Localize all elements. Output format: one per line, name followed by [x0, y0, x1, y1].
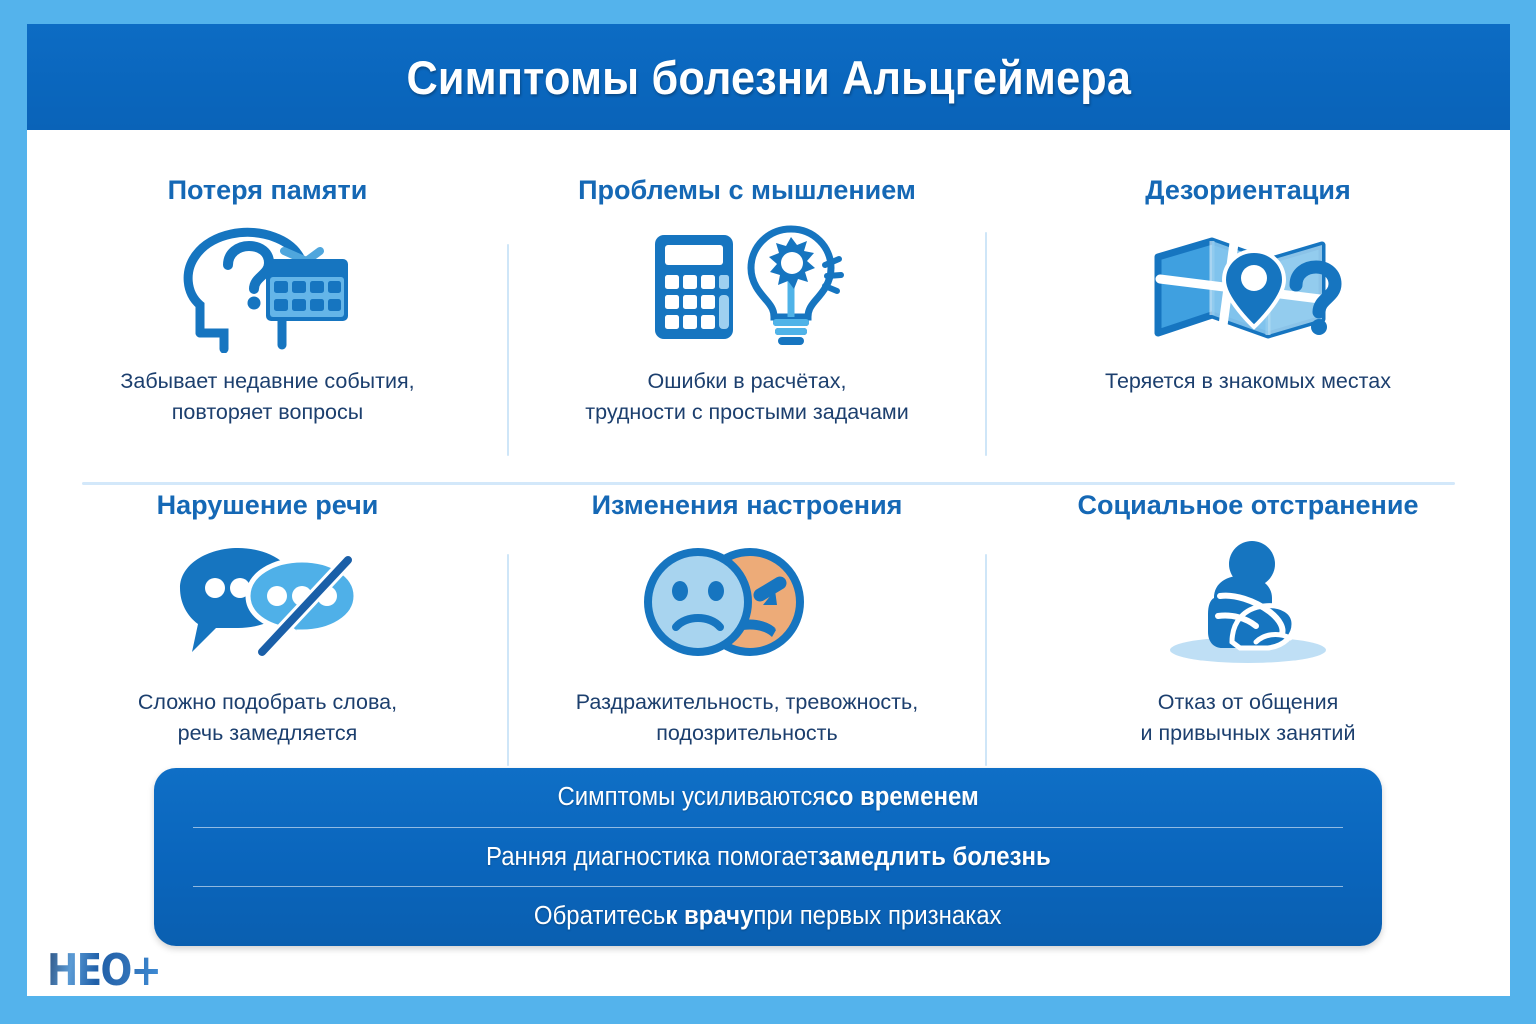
divider-vertical-2	[985, 232, 987, 456]
calculator-lightbulb-icon	[647, 212, 847, 362]
banner-line-2-bold: замедлить болезнь	[818, 843, 1051, 872]
card-description: Отказ от общения и привычных занятий	[1127, 687, 1370, 749]
card-description-line: повторяет вопросы	[172, 400, 363, 424]
symptom-card-speech-impairment[interactable]: Нарушение речи	[27, 447, 508, 764]
symptom-card-mood-changes[interactable]: Изменения настроения Раздражител	[508, 447, 986, 764]
symptom-grid: Потеря памяти	[27, 130, 1510, 764]
banner-line-2-plain: Ранняя диагностика помогает	[486, 843, 818, 872]
banner-line-1: Симптомы усиливаются со временем	[557, 768, 978, 827]
card-description: Забывает недавние события, повторяет воп…	[106, 366, 428, 428]
banner-line-3-plain: Обратитесь	[534, 902, 665, 931]
symptom-card-disorientation[interactable]: Дезориентация Теряется в знакомы	[986, 130, 1510, 447]
symptom-card-social-withdrawal[interactable]: Социальное отстранение Отказ от общения …	[986, 447, 1510, 764]
card-description-line: речь замедляется	[178, 721, 358, 745]
card-description-line: и привычных занятий	[1141, 721, 1356, 745]
poster-panel: Симптомы болезни Альцгеймера Потеря памя…	[27, 24, 1510, 996]
symptom-card-thinking-problems[interactable]: Проблемы с мышлением	[508, 130, 986, 447]
divider-vertical-4	[985, 554, 987, 766]
symptom-card-memory-loss[interactable]: Потеря памяти	[27, 130, 508, 447]
card-description-line: Забывает недавние события,	[120, 369, 414, 393]
speech-bubbles-crossed-icon	[170, 527, 366, 677]
card-description: Ошибки в расчётах, трудности с простыми …	[571, 366, 922, 428]
head-question-calendar-icon	[178, 212, 358, 362]
card-description-line: Отказ от общения	[1158, 690, 1339, 714]
card-description-line: Раздражительность, тревожность,	[576, 690, 918, 714]
card-description: Теряется в знакомых местах	[1091, 366, 1405, 397]
map-pin-question-icon	[1150, 212, 1346, 362]
card-title: Проблемы с мышлением	[578, 176, 916, 206]
sad-angry-faces-icon	[642, 527, 852, 677]
divider-horizontal	[82, 482, 1455, 485]
sitting-person-icon	[1148, 527, 1348, 677]
card-title: Потеря памяти	[168, 176, 368, 206]
card-title: Социальное отстранение	[1078, 491, 1419, 521]
card-description-line: Теряется в знакомых местах	[1105, 369, 1391, 393]
banner-line-1-plain: Симптомы усиливаются	[557, 783, 825, 812]
card-title: Нарушение речи	[157, 491, 379, 521]
divider-vertical-1	[507, 244, 509, 456]
divider-vertical-3	[507, 554, 509, 766]
card-title: Изменения настроения	[592, 491, 903, 521]
card-title: Дезориентация	[1145, 176, 1350, 206]
card-description: Сложно подобрать слова, речь замедляется	[124, 687, 411, 749]
page-title: Симптомы болезни Альцгеймера	[406, 50, 1131, 105]
card-description-line: Ошибки в расчётах,	[648, 369, 847, 393]
card-description: Раздражительность, тревожность, подозрит…	[562, 687, 932, 749]
banner-line-3-tail: при первых признаках	[754, 902, 1002, 931]
banner-line-3: Обратитесь к врачу при первых признаках	[534, 887, 1002, 946]
banner-line-1-bold: со временем	[825, 783, 978, 812]
banner-line-2: Ранняя диагностика помогает замедлить бо…	[486, 828, 1051, 887]
card-description-line: Сложно подобрать слова,	[138, 690, 397, 714]
key-messages-banner: Симптомы усиливаются со временем Ранняя …	[154, 768, 1382, 946]
brand-logo: НЕО+	[47, 945, 160, 996]
card-description-line: трудности с простыми задачами	[585, 400, 908, 424]
card-description-line: подозрительность	[656, 721, 837, 745]
header-bar: Симптомы болезни Альцгеймера	[27, 24, 1510, 130]
banner-line-3-bold: к врачу	[666, 902, 754, 931]
